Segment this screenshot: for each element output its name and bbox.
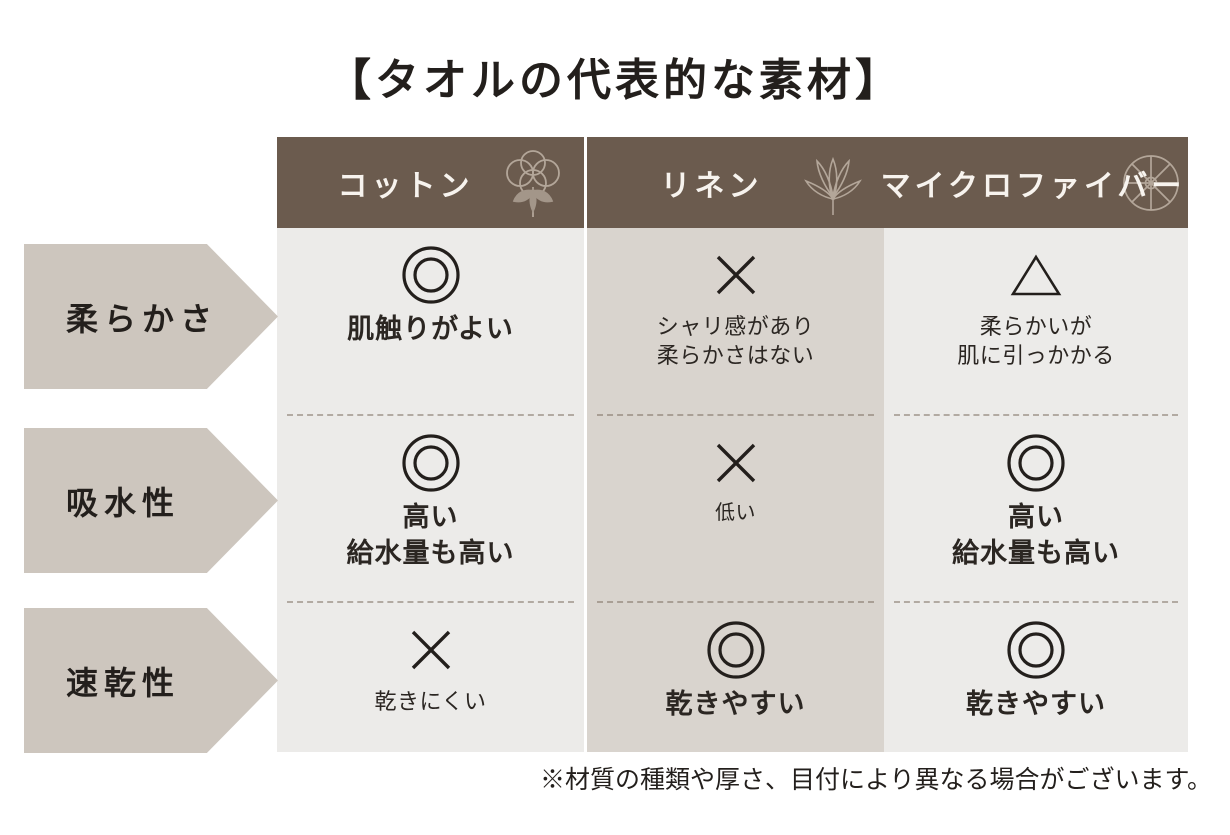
cell-text: シャリ感があり 柔らかさはない — [657, 312, 815, 370]
row-label-quick-dry: 速乾性 — [24, 608, 278, 753]
double-circle-mark — [1005, 432, 1067, 494]
row-label-text: 速乾性 — [66, 658, 180, 704]
cross-mark — [405, 619, 457, 681]
flax-leaf-icon — [800, 147, 866, 219]
table-body: 肌触りがよい 高い 給水量も高い 乾きにくい — [277, 228, 1191, 752]
column-header-label: リネン — [661, 161, 763, 205]
cell-text: 低い — [715, 500, 756, 526]
cell-cotton-absorbency: 高い 給水量も高い — [277, 416, 584, 601]
column-header-linen: リネン — [587, 137, 884, 228]
row-label-text: 柔らかさ — [66, 294, 218, 340]
double-circle-mark — [705, 619, 767, 681]
row-label-absorbency: 吸水性 — [24, 428, 278, 573]
cross-mark — [710, 432, 762, 494]
cell-text: 乾きやすい — [666, 687, 806, 723]
cell-text: 柔らかいが 肌に引っかかる — [957, 312, 1115, 370]
double-circle-mark — [1005, 619, 1067, 681]
cotton-boll-icon — [500, 147, 566, 219]
page-title: 【タオルの代表的な素材】 — [0, 44, 1230, 108]
cell-microfiber-absorbency: 高い 給水量も高い — [884, 416, 1188, 601]
triangle-mark — [1007, 244, 1065, 306]
table-header-row: コットン リネン — [277, 137, 1191, 228]
column-microfiber: 柔らかいが 肌に引っかかる 高い 給水量も高い 乾きやすい — [884, 228, 1188, 752]
row-label-text: 吸水性 — [66, 478, 180, 524]
cell-cotton-quick-dry: 乾きにくい — [277, 603, 584, 756]
cell-linen-softness: シャリ感があり 柔らかさはない — [587, 228, 884, 414]
footnote: ※材質の種類や厚さ、目付により異なる場合がございます。 — [0, 760, 1212, 796]
cell-linen-absorbency: 低い — [587, 416, 884, 601]
cell-microfiber-quick-dry: 乾きやすい — [884, 603, 1188, 756]
column-header-label: マイクロファイバー — [881, 161, 1186, 205]
cell-text: 肌触りがよい — [347, 312, 514, 348]
column-linen: シャリ感があり 柔らかさはない 低い 乾きやすい — [587, 228, 884, 752]
column-header-label: コットン — [338, 161, 474, 205]
material-comparison-table: コットン リネン — [277, 137, 1191, 752]
double-circle-mark — [400, 432, 462, 494]
column-cotton: 肌触りがよい 高い 給水量も高い 乾きにくい — [277, 228, 584, 752]
column-header-microfiber: マイクロファイバー — [884, 137, 1188, 228]
cell-text: 乾きにくい — [374, 687, 486, 716]
cell-cotton-softness: 肌触りがよい — [277, 228, 584, 414]
cross-mark — [710, 244, 762, 306]
cell-linen-quick-dry: 乾きやすい — [587, 603, 884, 756]
row-label-softness: 柔らかさ — [24, 244, 278, 389]
cell-text: 高い 給水量も高い — [347, 500, 515, 571]
cell-text: 高い 給水量も高い — [952, 500, 1120, 571]
cell-text: 乾きやすい — [966, 687, 1106, 723]
cell-microfiber-softness: 柔らかいが 肌に引っかかる — [884, 228, 1188, 414]
double-circle-mark — [400, 244, 462, 306]
column-header-cotton: コットン — [277, 137, 584, 228]
